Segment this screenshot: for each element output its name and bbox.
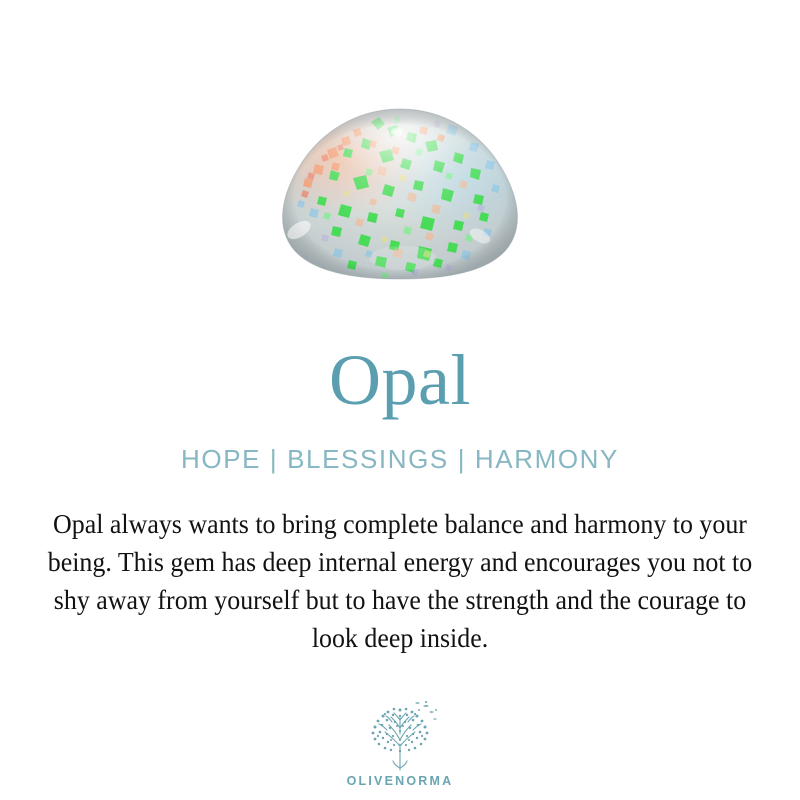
brand-logo: OLIVENORMA (0, 698, 800, 788)
description-paragraph: Opal always wants to bring complete bala… (35, 475, 765, 657)
gem-image-stage (0, 0, 800, 300)
opal-cabochon (275, 108, 525, 280)
tree-icon (357, 698, 443, 772)
keyword-subtitle: HOPE | BLESSINGS | HARMONY (181, 416, 619, 475)
opal-cabochon-graphic (275, 108, 525, 280)
page-title: Opal (329, 300, 471, 416)
brand-wordmark: OLIVENORMA (347, 774, 454, 788)
gemstone-info-card: Opal HOPE | BLESSINGS | HARMONY Opal alw… (0, 0, 800, 800)
